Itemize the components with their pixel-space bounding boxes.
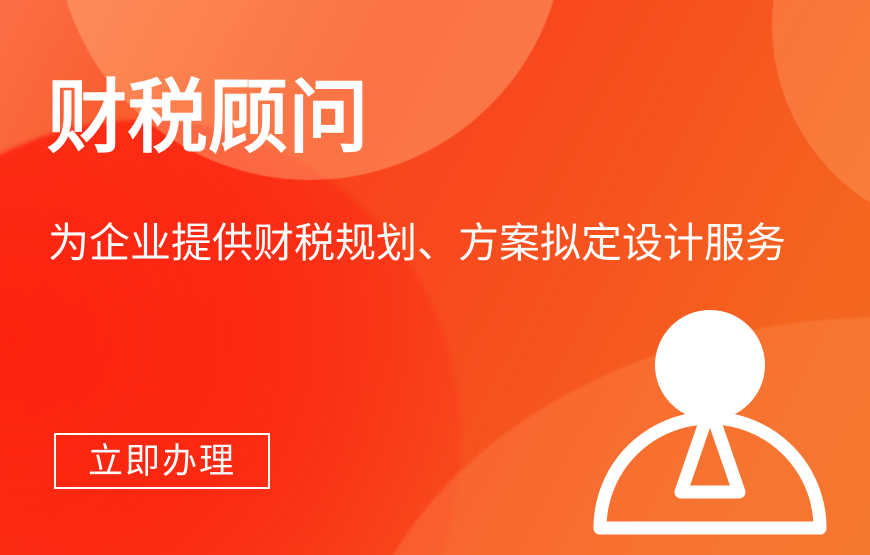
apply-now-button[interactable]: 立即办理 (54, 433, 270, 489)
promo-banner: 财税顾问 为企业提供财税规划、方案拟定设计服务 立即办理 (0, 0, 870, 555)
banner-subheadline: 为企业提供财税规划、方案拟定设计服务 (48, 220, 786, 267)
banner-content: 财税顾问 为企业提供财税规划、方案拟定设计服务 立即办理 (0, 0, 870, 555)
person-advisor-icon (588, 300, 836, 540)
banner-headline: 财税顾问 (47, 78, 369, 158)
